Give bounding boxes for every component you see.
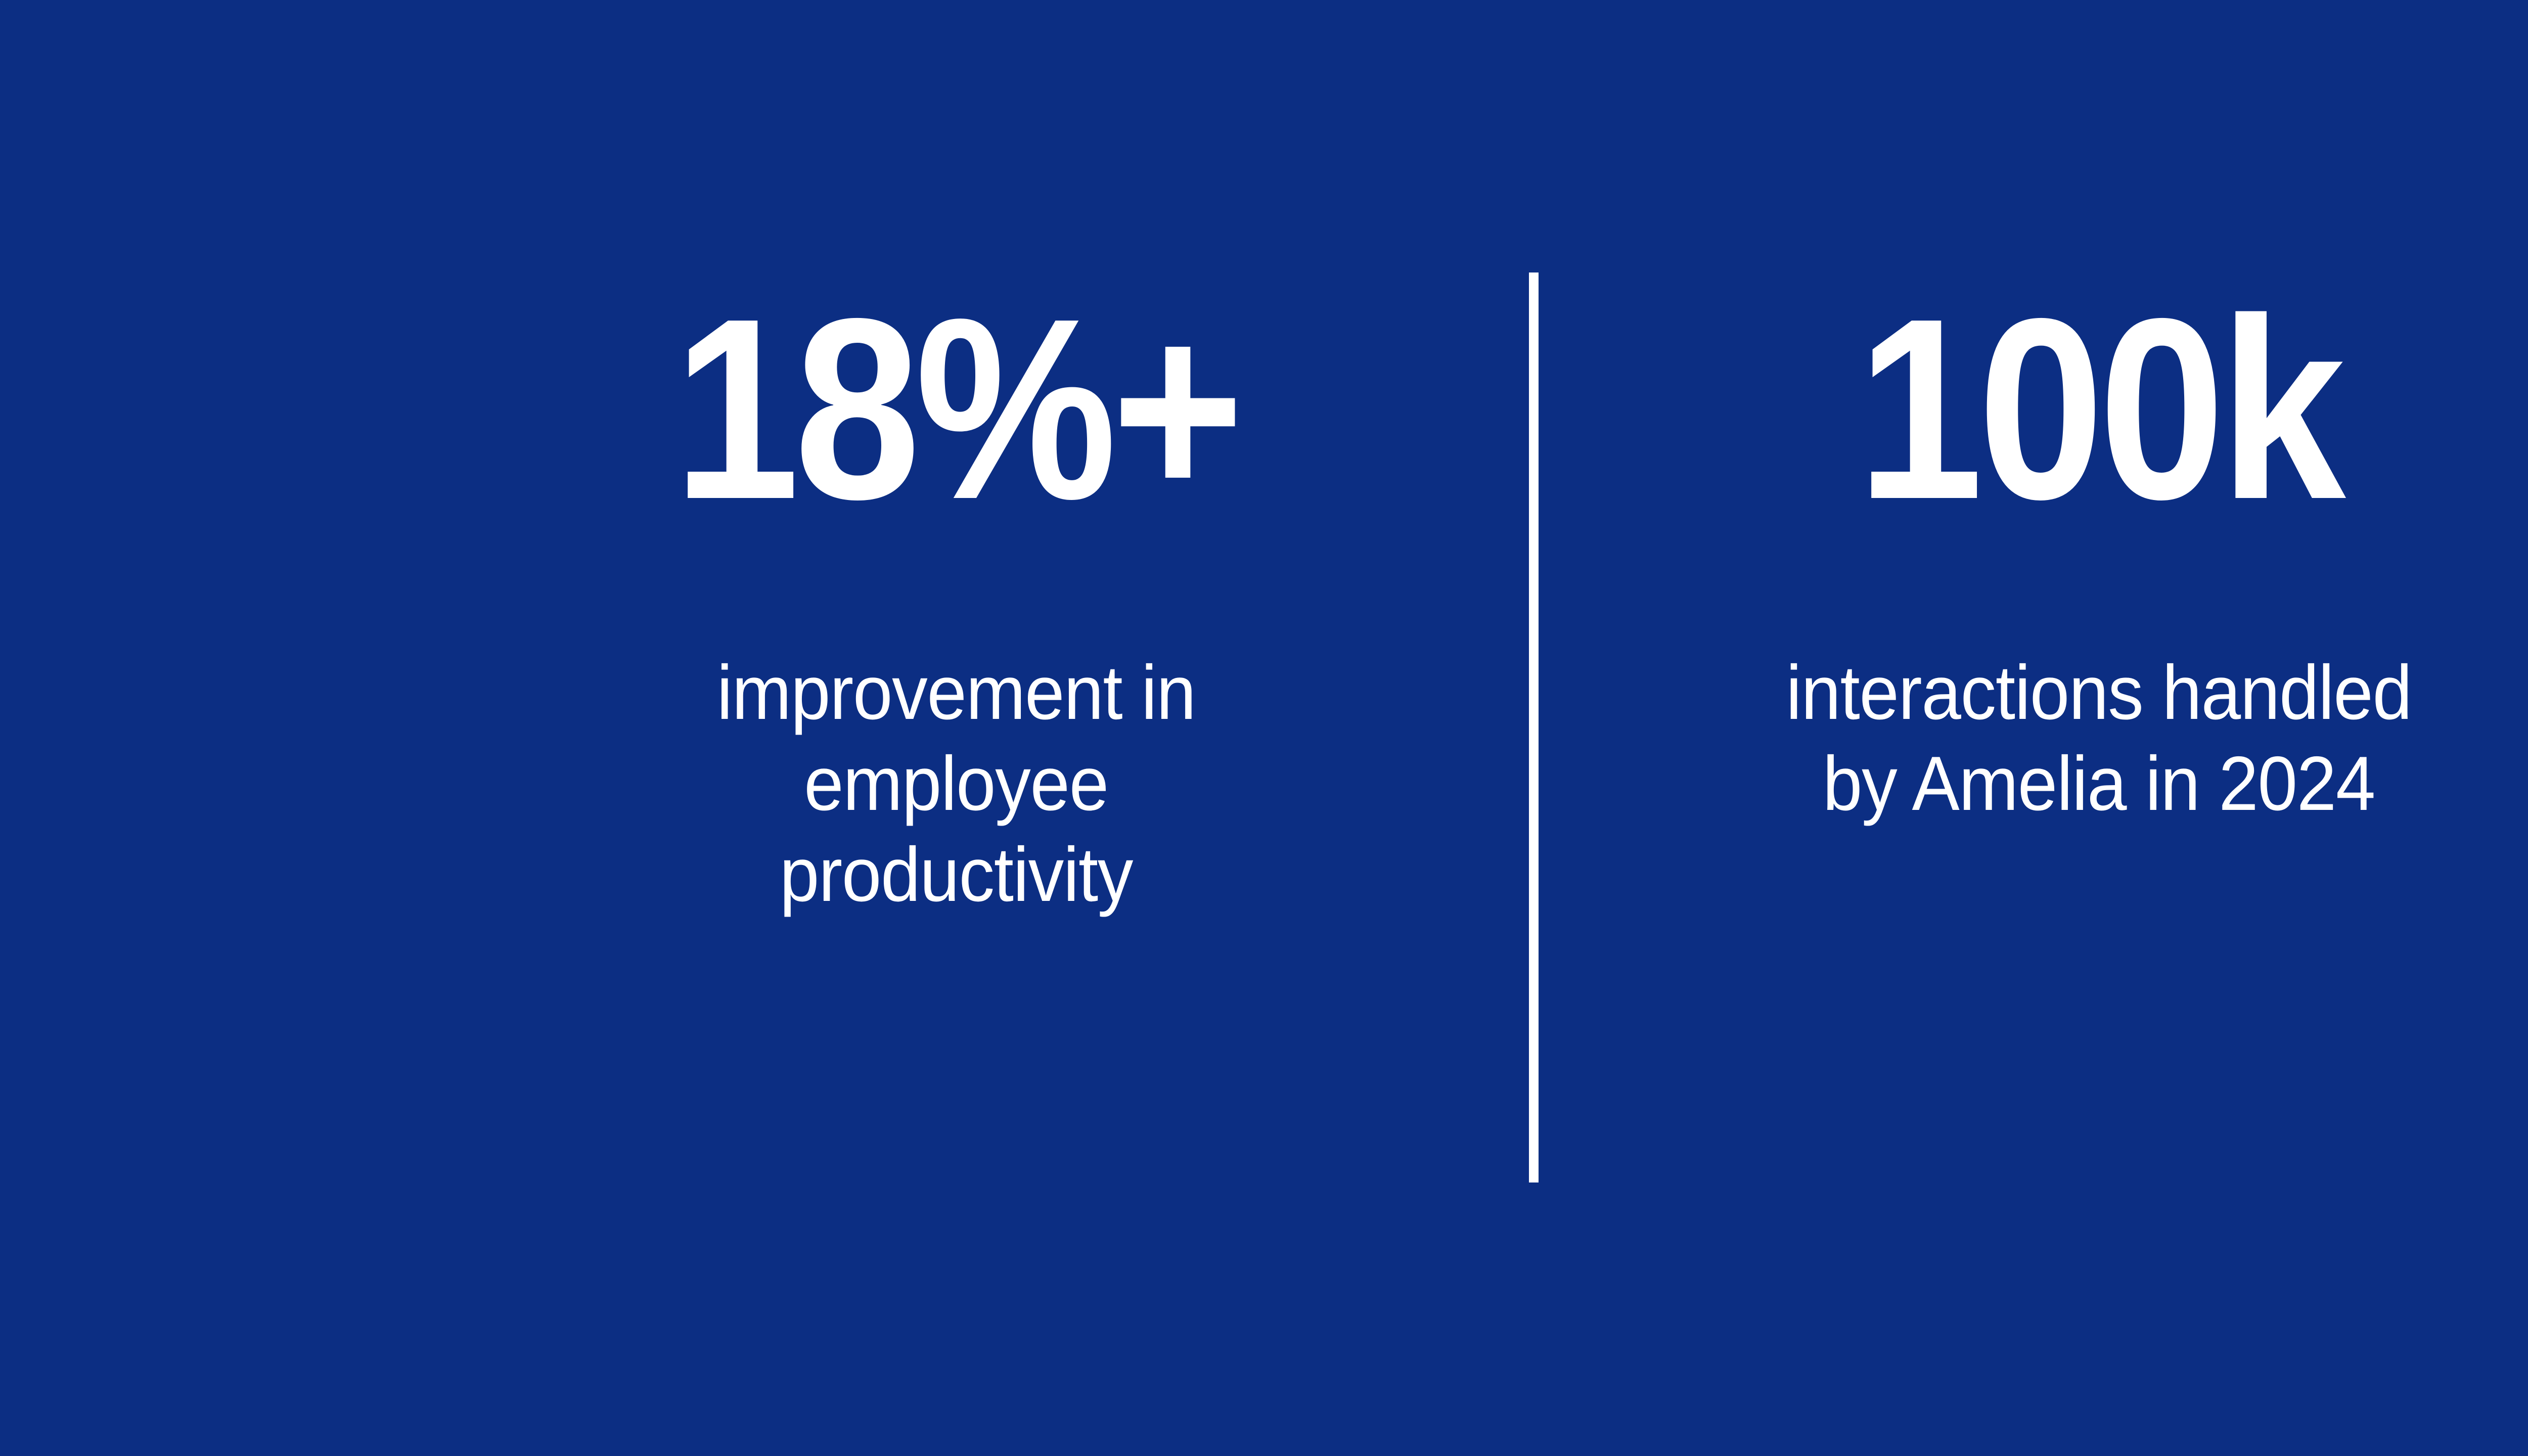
caption-line: by Amelia in 2024 <box>1770 738 2428 829</box>
stat-value-amelia-interactions: 100k <box>1787 283 2410 536</box>
stat-block-employee-productivity: 18%+ improvement in employee productivit… <box>602 283 1310 920</box>
caption-line: employee <box>627 738 1285 829</box>
stat-block-amelia-interactions: 100k interactions handled by Amelia in 2… <box>1745 283 2453 829</box>
caption-line: productivity <box>627 829 1285 920</box>
vertical-divider <box>1529 272 1539 1182</box>
stat-caption-employee-productivity: improvement in employee productivity <box>627 647 1285 920</box>
caption-line: interactions handled <box>1770 647 2428 738</box>
stats-banner: 18%+ improvement in employee productivit… <box>0 0 2528 1456</box>
stat-caption-amelia-interactions: interactions handled by Amelia in 2024 <box>1770 647 2428 829</box>
caption-line: improvement in <box>627 647 1285 738</box>
stat-value-employee-productivity: 18%+ <box>645 283 1268 536</box>
